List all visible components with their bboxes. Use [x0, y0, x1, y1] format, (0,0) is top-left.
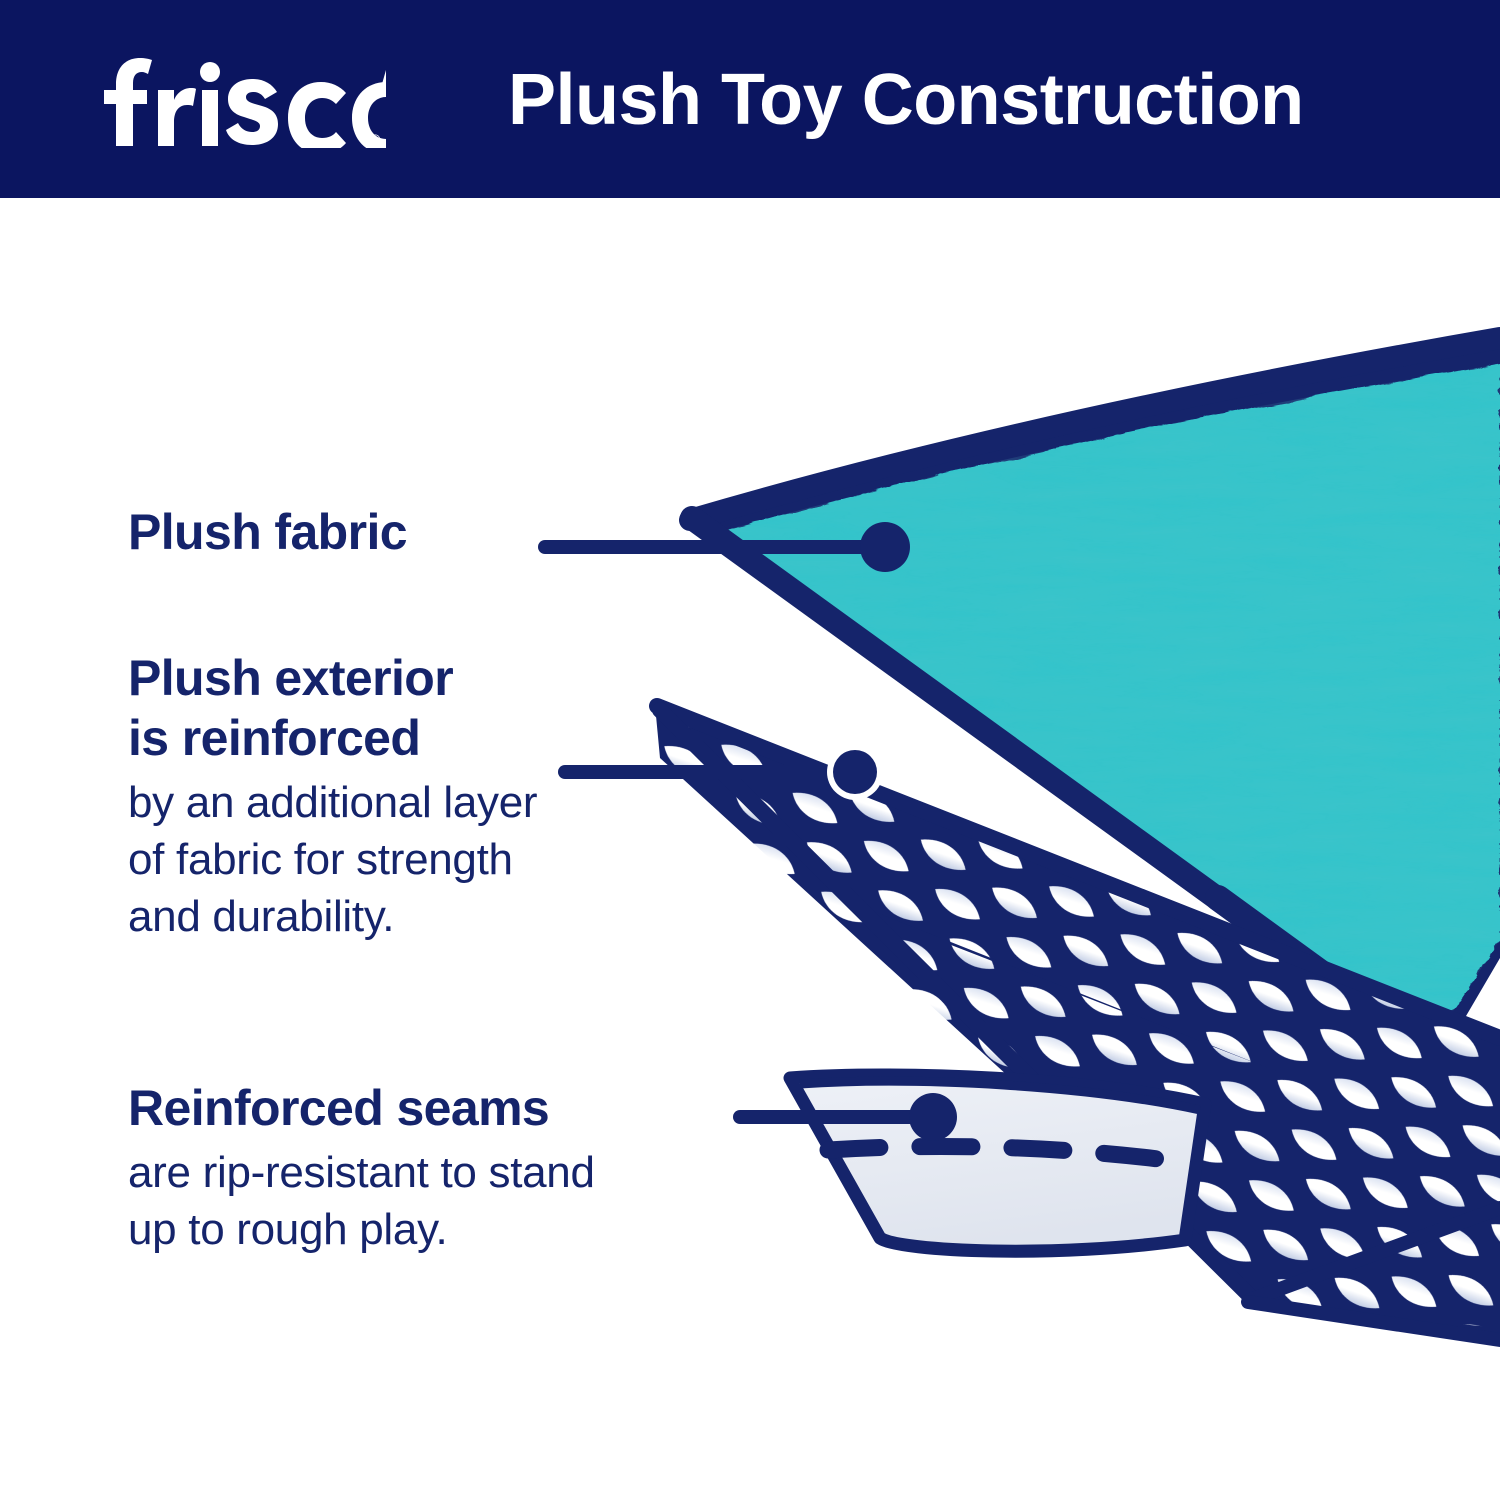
callout-plush-fabric: Plush fabric — [128, 502, 407, 562]
page-title: Plush Toy Construction — [508, 50, 1304, 150]
callout-plush-exterior-heading: Plush exterior is reinforced — [128, 648, 537, 768]
callout-plush-fabric-heading: Plush fabric — [128, 502, 407, 562]
infographic-page: ® Plush Toy Construction — [0, 0, 1500, 1500]
header-band: ® Plush Toy Construction — [0, 0, 1500, 198]
callout-plush-exterior-body: by an additional layer of fabric for str… — [128, 774, 537, 945]
trademark-symbol: ® — [370, 131, 381, 147]
seam-flap-layer — [790, 1075, 1205, 1251]
frisco-logo: ® — [86, 44, 386, 148]
callout-reinforced-seams-heading: Reinforced seams — [128, 1078, 595, 1138]
callout-reinforced-seams: Reinforced seams are rip-resistant to st… — [128, 1078, 595, 1258]
callout-reinforced-seams-body: are rip-resistant to stand up to rough p… — [128, 1144, 595, 1258]
callout-plush-exterior: Plush exterior is reinforced by an addit… — [128, 648, 537, 945]
